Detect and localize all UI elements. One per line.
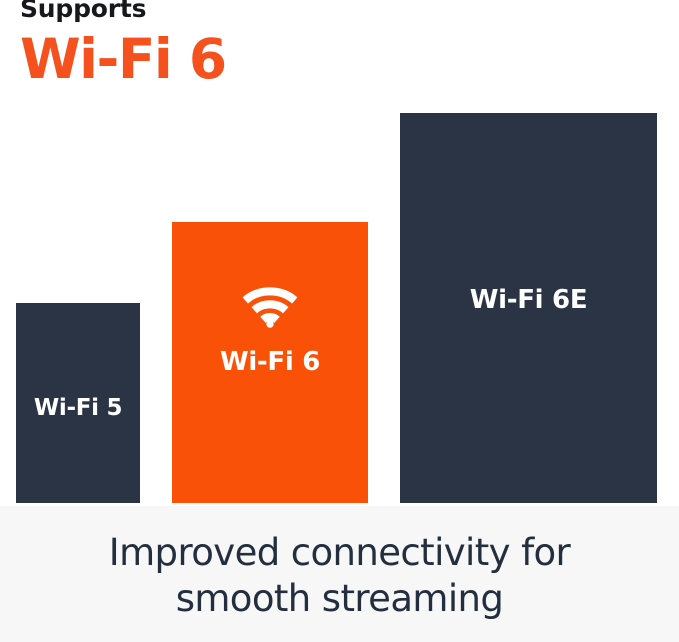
bar-wifi-6e: Wi-Fi 6E [400,113,657,503]
bar-label-wifi-5: Wi-Fi 5 [16,395,140,421]
bar-wifi-6: Wi-Fi 6 [172,222,368,503]
bar-wifi-5: Wi-Fi 5 [16,303,140,503]
bar-label-wifi-6e: Wi-Fi 6E [400,285,657,315]
bar-chart: Wi-Fi 5 Wi-Fi 6 Wi-Fi 6E [0,0,679,506]
wifi-signal-icon [242,284,298,328]
caption-text: Improved connectivity for smooth streami… [109,530,570,622]
caption-line-1: Improved connectivity for [109,531,570,574]
bar-label-wifi-6: Wi-Fi 6 [172,347,368,377]
wifi-comparison-infographic: Supports Wi-Fi 6 Wi-Fi 5 Wi-Fi 6 Wi-Fi 6… [0,0,679,642]
caption-line-2: smooth streaming [176,577,504,620]
caption-band: Improved connectivity for smooth streami… [0,506,679,642]
